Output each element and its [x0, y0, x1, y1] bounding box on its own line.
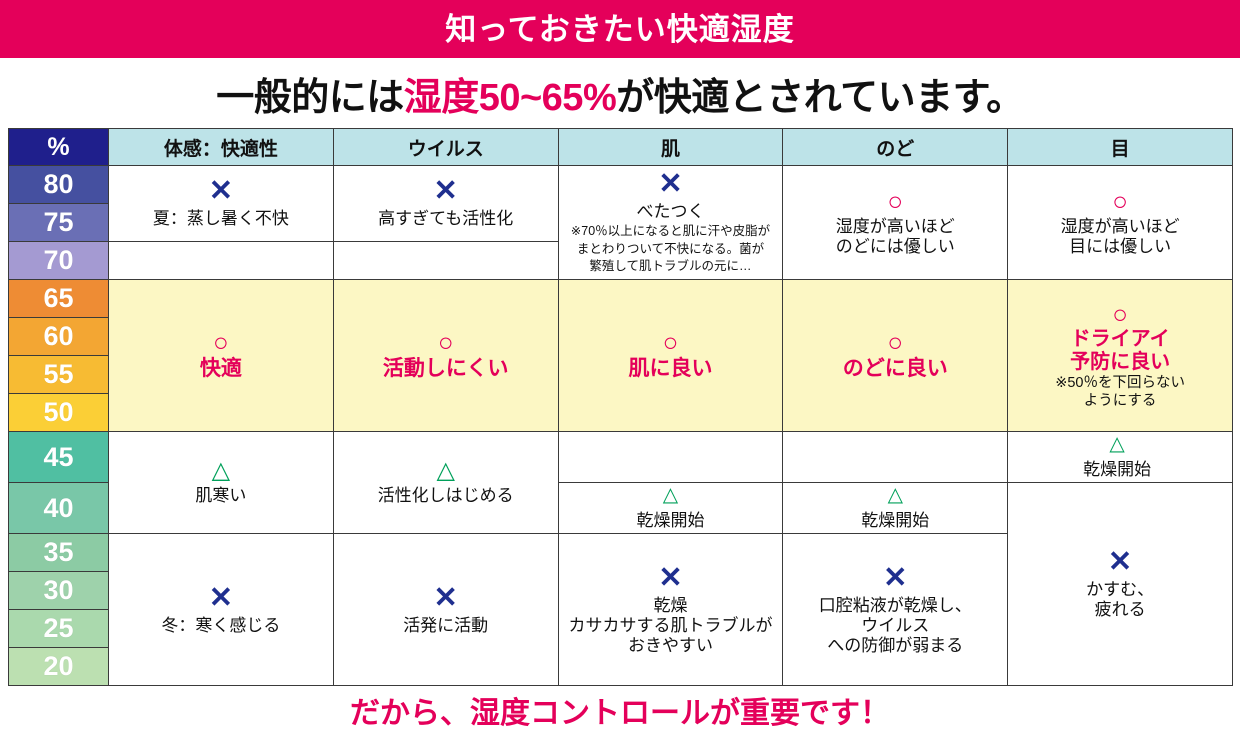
banner: 知っておきたい快適湿度 — [0, 0, 1240, 58]
table-row: 45 △ 肌寒い △ 活性化しはじめる △ 乾燥開始 — [9, 432, 1233, 483]
table-header-row: % 体感：快適性 ウイルス 肌 のど 目 — [9, 129, 1233, 166]
column-header-skin: 肌 — [558, 129, 783, 166]
cell-virus-mid: △ 活性化しはじめる — [333, 432, 558, 534]
cell-comfort-mid: △ 肌寒い — [109, 432, 334, 534]
cell-text: 乾燥開始 — [861, 511, 929, 531]
circle-mark-icon: ○ — [438, 329, 454, 355]
cell-text-line-2: ウイルス — [861, 616, 929, 636]
x-mark-icon: ✕ — [209, 177, 233, 206]
cell-note-line-2: ようにする — [1084, 393, 1157, 410]
cell-eyes-low: ✕ かすむ、 疲れる — [1008, 483, 1233, 686]
circle-mark-icon: ○ — [1112, 188, 1128, 214]
pct-cell-25: 25 — [9, 610, 109, 648]
column-header-virus: ウイルス — [333, 129, 558, 166]
x-mark-icon: ✕ — [1108, 548, 1132, 577]
pct-cell-20: 20 — [9, 648, 109, 686]
pct-cell-55: 55 — [9, 356, 109, 394]
pct-cell-30: 30 — [9, 572, 109, 610]
cell-text: 高すぎても活性化 — [378, 209, 513, 229]
circle-mark-icon: ○ — [663, 329, 679, 355]
cell-text-line-1: 口腔粘液が乾燥し、 — [819, 596, 972, 616]
cell-comfort-band: ○ 快適 — [109, 280, 334, 432]
cell-comfort-high: ✕ 夏：蒸し暑く不快 — [109, 166, 334, 242]
cell-skin-band: ○ 肌に良い — [558, 280, 783, 432]
cell-text: 活発に活動 — [403, 616, 488, 636]
cell-virus-high: ✕ 高すぎても活性化 — [333, 166, 558, 242]
cell-note-line-2: まとわりついて不快になる。菌が — [577, 242, 764, 258]
cell-text: 活動しにくい — [383, 357, 509, 382]
subtitle-tail: が快適とされています。 — [616, 66, 1024, 121]
subtitle-lead: 一般的には — [216, 66, 404, 121]
subtitle: 一般的には 湿度50~65% が快適とされています。 — [0, 58, 1240, 128]
subtitle-highlight: 湿度50~65% — [404, 66, 617, 121]
pct-cell-35: 35 — [9, 534, 109, 572]
circle-mark-icon: ○ — [887, 329, 903, 355]
cell-text-line-2: 疲れる — [1095, 600, 1146, 620]
cell-text: のどに良い — [843, 357, 948, 382]
cell-virus-70 — [333, 242, 558, 280]
cell-text: 夏：蒸し暑く不快 — [153, 209, 289, 229]
x-mark-icon: ✕ — [883, 564, 907, 593]
cell-comfort-low: ✕ 冬：寒く感じる — [109, 534, 334, 686]
cell-text-line-2: 目には優しい — [1069, 237, 1171, 257]
column-header-pct: % — [9, 129, 109, 166]
footer-text: だから、湿度コントロールが重要です！ — [350, 688, 890, 732]
cell-text-line-1: ドライアイ — [1071, 328, 1170, 350]
table-row: 65 ○ 快適 ○ 活動しにくい ○ 肌に良い — [9, 280, 1233, 318]
cell-skin-high: ✕ べたつく ※70％以上になると肌に汗や皮脂が まとわりついて不快になる。菌が… — [558, 166, 783, 280]
column-header-comfort: 体感：快適性 — [109, 129, 334, 166]
cell-text-line-1: 乾燥 — [653, 596, 687, 616]
circle-mark-icon: ○ — [887, 188, 903, 214]
cell-skin-low: ✕ 乾燥 カサカサする肌トラブルが おきやすい — [558, 534, 783, 686]
cell-virus-low: ✕ 活発に活動 — [333, 534, 558, 686]
cell-text-line-3: への防御が弱まる — [827, 636, 963, 656]
cell-text: 活性化しはじめる — [378, 486, 514, 506]
cell-eyes-mid: △ 乾燥開始 — [1008, 432, 1233, 483]
cell-text-line-2: のどには優しい — [836, 237, 955, 257]
cell-text: 乾燥開始 — [636, 511, 704, 531]
footer: だから、湿度コントロールが重要です！ — [0, 686, 1240, 734]
triangle-mark-icon: △ — [436, 459, 454, 483]
x-mark-icon: ✕ — [658, 170, 682, 199]
cell-text-line-1: 湿度が高いほど — [836, 217, 955, 237]
cell-note-line-3: 繁殖して肌トラブルの元に… — [589, 259, 751, 275]
pct-cell-40: 40 — [9, 483, 109, 534]
pct-cell-60: 60 — [9, 318, 109, 356]
pct-cell-50: 50 — [9, 394, 109, 432]
cell-text: 乾燥開始 — [1083, 460, 1151, 480]
cell-throat-high: ○ 湿度が高いほど のどには優しい — [783, 166, 1008, 280]
pct-cell-75: 75 — [9, 204, 109, 242]
cell-throat-band: ○ のどに良い — [783, 280, 1008, 432]
cell-eyes-high: ○ 湿度が高いほど 目には優しい — [1008, 166, 1233, 280]
triangle-mark-icon: △ — [888, 485, 903, 505]
pct-cell-65: 65 — [9, 280, 109, 318]
cell-note-line-1: ※70％以上になると肌に汗や皮脂が — [571, 224, 770, 240]
column-header-throat: のど — [783, 129, 1008, 166]
circle-mark-icon: ○ — [1112, 301, 1128, 327]
cell-text-line-2: 予防に良い — [1070, 351, 1170, 373]
circle-mark-icon: ○ — [213, 329, 229, 355]
triangle-mark-icon: △ — [1109, 434, 1124, 454]
cell-comfort-70 — [109, 242, 334, 280]
x-mark-icon: ✕ — [434, 177, 458, 206]
cell-text-line-1: 湿度が高いほど — [1061, 217, 1180, 237]
cell-throat-low: ✕ 口腔粘液が乾燥し、 ウイルス への防御が弱まる — [783, 534, 1008, 686]
pct-cell-70: 70 — [9, 242, 109, 280]
cell-text-line-2: カサカサする肌トラブルが — [568, 616, 772, 636]
cell-text: 冬：寒く感じる — [161, 616, 280, 636]
cell-virus-band: ○ 活動しにくい — [333, 280, 558, 432]
cell-text: べたつく — [636, 202, 704, 222]
cell-note-line-1: ※50％を下回らない — [1055, 375, 1185, 392]
cell-text: 肌に良い — [628, 357, 712, 382]
x-mark-icon: ✕ — [209, 584, 233, 613]
humidity-comfort-infographic: 知っておきたい快適湿度 一般的には 湿度50~65% が快適とされています。 %… — [0, 0, 1240, 700]
humidity-table: % 体感：快適性 ウイルス 肌 のど 目 80 ✕ 夏：蒸し暑く不快 ✕ 高すぎ… — [8, 128, 1233, 686]
cell-throat-45 — [783, 432, 1008, 483]
column-header-eyes: 目 — [1008, 129, 1233, 166]
banner-title: 知っておきたい快適湿度 — [445, 14, 795, 45]
pct-cell-80: 80 — [9, 166, 109, 204]
cell-skin-mid: △ 乾燥開始 — [558, 483, 783, 534]
humidity-table-wrapper: % 体感：快適性 ウイルス 肌 のど 目 80 ✕ 夏：蒸し暑く不快 ✕ 高すぎ… — [0, 128, 1240, 686]
cell-text-line-1: かすむ、 — [1086, 580, 1154, 600]
cell-text: 肌寒い — [195, 486, 246, 506]
cell-text: 快適 — [200, 357, 242, 382]
pct-cell-45: 45 — [9, 432, 109, 483]
triangle-mark-icon: △ — [663, 485, 678, 505]
cell-throat-mid: △ 乾燥開始 — [783, 483, 1008, 534]
x-mark-icon: ✕ — [434, 584, 458, 613]
table-row: 80 ✕ 夏：蒸し暑く不快 ✕ 高すぎても活性化 ✕ べたつく ※70％以上にな… — [9, 166, 1233, 204]
cell-skin-45 — [558, 432, 783, 483]
cell-eyes-band: ○ ドライアイ 予防に良い ※50％を下回らない ようにする — [1008, 280, 1233, 432]
triangle-mark-icon: △ — [212, 459, 230, 483]
cell-text-line-3: おきやすい — [628, 636, 713, 656]
x-mark-icon: ✕ — [658, 564, 682, 593]
